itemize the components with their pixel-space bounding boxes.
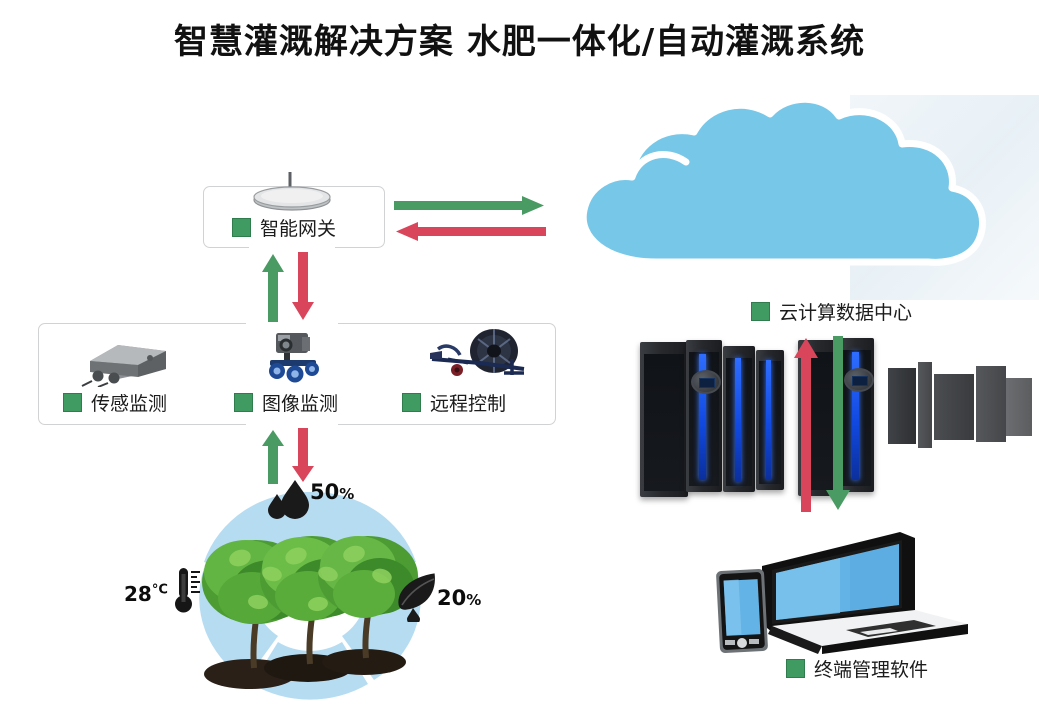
cloud-label-text: 云计算数据中心 bbox=[779, 298, 912, 325]
irrigation-reel-icon bbox=[420, 329, 536, 387]
bullet-icon bbox=[234, 393, 253, 412]
gateway-label: 智能网关 bbox=[232, 214, 336, 241]
bullet-icon bbox=[786, 659, 805, 678]
arrow-gateway-to-cloud bbox=[394, 196, 546, 218]
temperature-readout: 28°C bbox=[124, 582, 168, 606]
arrow-field-to-devices bbox=[262, 428, 286, 484]
sensor-label: 传感监测 bbox=[63, 389, 167, 416]
leaf-readout: 20% bbox=[437, 586, 481, 610]
arrow-terminal-to-cloud bbox=[794, 336, 820, 512]
remote-label-text: 远程控制 bbox=[430, 389, 506, 416]
bullet-icon bbox=[232, 218, 251, 237]
sensor-box-icon bbox=[72, 339, 170, 387]
remote-label: 远程控制 bbox=[402, 389, 506, 416]
water-drop-icon bbox=[265, 478, 313, 520]
cloud-label: 云计算数据中心 bbox=[751, 298, 912, 325]
cloud-icon bbox=[536, 92, 1036, 297]
bullet-icon bbox=[63, 393, 82, 412]
image-label: 图像监测 bbox=[234, 389, 338, 416]
cloud-server-group bbox=[536, 92, 1036, 297]
page-title: 智慧灌溉解决方案 水肥一体化/自动灌溉系统 bbox=[0, 22, 1039, 63]
leaf-value: 20 bbox=[437, 586, 466, 610]
moisture-unit: % bbox=[339, 485, 354, 503]
arrow-devices-to-field bbox=[292, 428, 316, 484]
arrow-gateway-to-devices bbox=[292, 252, 316, 322]
router-icon bbox=[246, 172, 338, 212]
bullet-icon bbox=[402, 393, 421, 412]
leaf-drop-icon bbox=[393, 572, 441, 622]
diagram-canvas: 智慧灌溉解决方案 水肥一体化/自动灌溉系统 bbox=[0, 0, 1039, 713]
moisture-readout: 50% bbox=[310, 480, 354, 504]
bullet-icon bbox=[751, 302, 770, 321]
temperature-value: 28 bbox=[124, 582, 152, 606]
arrow-cloud-to-gateway bbox=[394, 222, 546, 244]
camera-rover-icon bbox=[262, 331, 324, 387]
terminal-label-text: 终端管理软件 bbox=[814, 655, 928, 682]
arrow-cloud-to-terminal bbox=[826, 336, 852, 512]
leaf-unit: % bbox=[466, 591, 481, 609]
gateway-label-text: 智能网关 bbox=[260, 214, 336, 241]
temperature-unit: °C bbox=[152, 582, 168, 597]
laptop-tablet-icon bbox=[700, 520, 975, 655]
terminal-label: 终端管理软件 bbox=[786, 655, 928, 682]
image-label-text: 图像监测 bbox=[262, 389, 338, 416]
thermometer-icon bbox=[172, 566, 208, 616]
sensor-label-text: 传感监测 bbox=[91, 389, 167, 416]
arrow-devices-to-gateway bbox=[262, 252, 286, 322]
